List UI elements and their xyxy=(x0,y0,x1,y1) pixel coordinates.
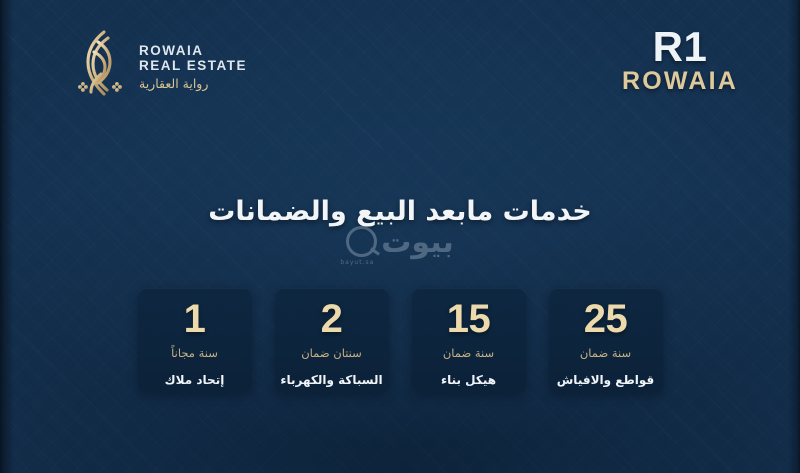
warranty-scope: إتحاد ملاك xyxy=(165,374,225,386)
brand-name-arabic: رواية العقارية xyxy=(139,77,208,91)
project-code: R1 xyxy=(622,26,738,67)
watermark-text: بيوت xyxy=(381,228,453,258)
poster-canvas: ROWAIA REAL ESTATE رواية العقارية R1 ROW… xyxy=(0,0,800,473)
brand-name-line2: REAL ESTATE xyxy=(139,59,247,74)
warranty-scope: هيكل بناء xyxy=(441,374,496,386)
watermark-logo-icon: bayut.sa xyxy=(346,226,377,257)
watermark-subtitle: bayut.sa xyxy=(340,259,374,266)
warranty-card[interactable]: 25 سنة ضمان قواطع والافياش xyxy=(549,288,663,393)
project-name: ROWAIA xyxy=(622,68,738,94)
brand-lockup-left: ROWAIA REAL ESTATE رواية العقارية xyxy=(74,28,247,102)
project-badge-right: R1 ROWAIA xyxy=(622,26,738,94)
warranty-card[interactable]: 15 سنة ضمان هيكل بناء xyxy=(412,288,526,393)
warranty-card[interactable]: 1 سنة مجاناً إتحاد ملاك xyxy=(138,288,252,393)
warranty-years: 25 xyxy=(584,299,628,339)
warranty-term: سنة ضمان xyxy=(443,348,494,360)
warranty-scope: السباكة والكهرباء xyxy=(280,374,382,386)
brand-wordmark: ROWAIA REAL ESTATE رواية العقارية xyxy=(139,40,247,91)
warranty-term: سنة ضمان xyxy=(580,348,631,360)
warranty-years: 2 xyxy=(321,299,343,339)
rowaia-logo-icon xyxy=(74,28,126,102)
warranty-cards: 1 سنة مجاناً إتحاد ملاك 2 سنتان ضمان الس… xyxy=(0,288,800,393)
warranty-scope: قواطع والافياش xyxy=(557,374,655,386)
poster-content: ROWAIA REAL ESTATE رواية العقارية R1 ROW… xyxy=(0,0,800,473)
warranty-term: سنتان ضمان xyxy=(301,348,362,360)
warranty-years: 15 xyxy=(447,299,491,339)
warranty-years: 1 xyxy=(184,299,206,339)
warranty-term: سنة مجاناً xyxy=(171,348,218,360)
brand-name-line1: ROWAIA xyxy=(139,44,204,59)
warranty-card[interactable]: 2 سنتان ضمان السباكة والكهرباء xyxy=(275,288,389,393)
page-title: خدمات مابعد البيع والضمانات xyxy=(0,196,800,227)
watermark: بيوت bayut.sa xyxy=(0,226,800,260)
